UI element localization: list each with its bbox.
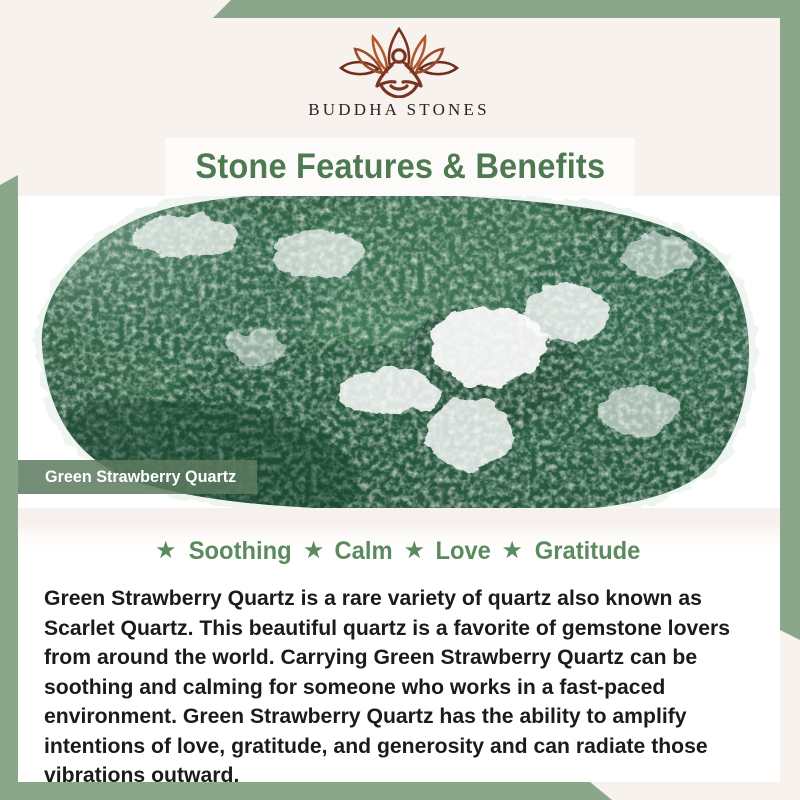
decor-band-right bbox=[780, 0, 800, 640]
photo-caption-label: Green Strawberry Quartz bbox=[45, 467, 236, 487]
description-text: Green Strawberry Quartz is a rare variet… bbox=[44, 584, 743, 791]
star-icon: ★ bbox=[501, 539, 523, 563]
photo-caption: Green Strawberry Quartz bbox=[18, 460, 257, 494]
keyword-gratitude: Gratitude bbox=[535, 537, 641, 566]
keyword-list: ★ Soothing ★ Calm ★ Love ★ Gratitude bbox=[18, 508, 780, 574]
keyword-love: Love bbox=[435, 537, 490, 566]
poster: BUDDHA STONES Stone Features & Benefits bbox=[0, 0, 800, 800]
page-title: Stone Features & Benefits bbox=[195, 147, 605, 187]
brand-header: BUDDHA STONES bbox=[18, 18, 780, 140]
description-panel: ★ Soothing ★ Calm ★ Love ★ Gratitude Gre… bbox=[18, 508, 780, 782]
content-card: BUDDHA STONES Stone Features & Benefits bbox=[18, 18, 780, 782]
decor-band-top bbox=[205, 0, 800, 18]
stone-photo: Green Strawberry Quartz bbox=[18, 196, 780, 508]
title-banner: Stone Features & Benefits bbox=[165, 138, 635, 196]
brand-wordmark: BUDDHA STONES bbox=[308, 100, 490, 120]
star-icon: ★ bbox=[303, 539, 325, 563]
keyword-calm: Calm bbox=[335, 537, 393, 566]
star-icon: ★ bbox=[155, 539, 177, 563]
keyword-soothing: Soothing bbox=[188, 537, 291, 566]
lotus-meditation-icon bbox=[335, 24, 463, 98]
decor-band-left bbox=[0, 175, 18, 800]
star-icon: ★ bbox=[403, 539, 425, 563]
